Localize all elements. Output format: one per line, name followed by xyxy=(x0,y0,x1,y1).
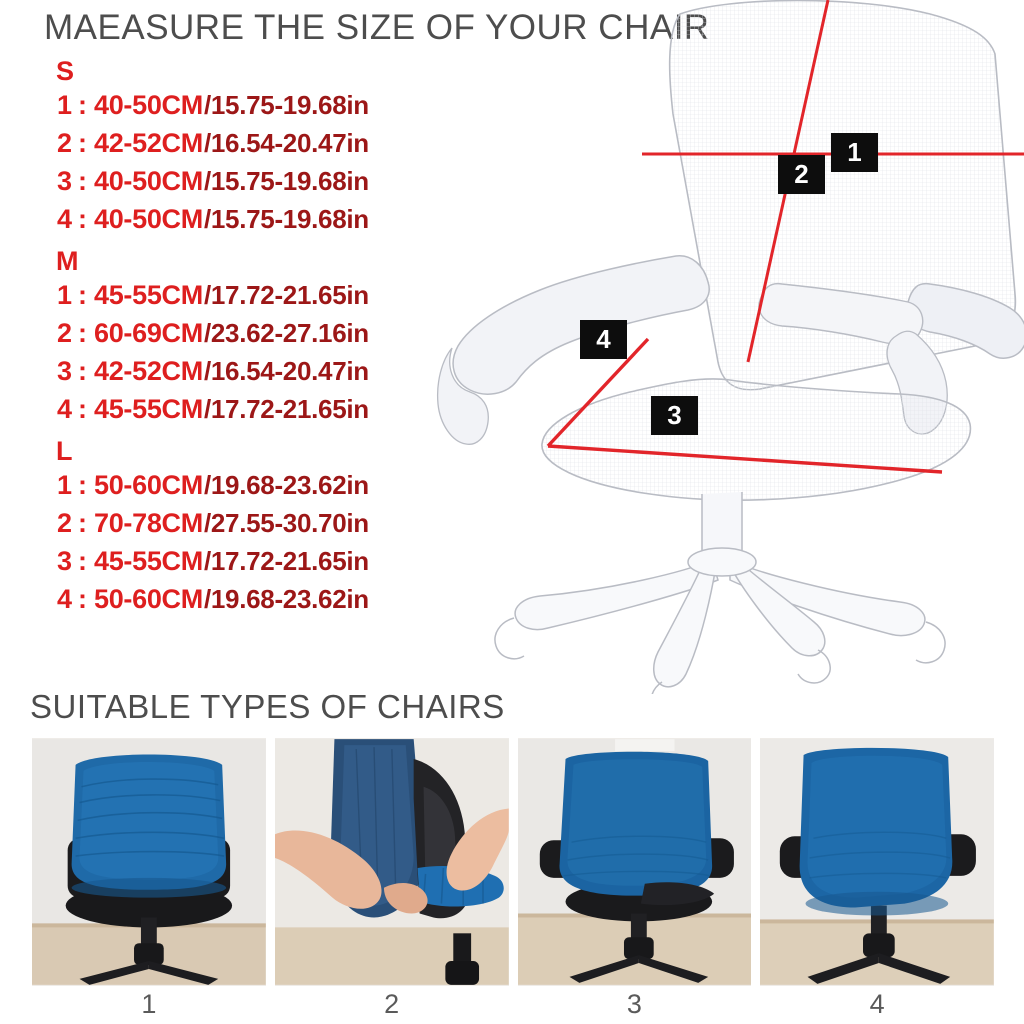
row-cm-value: 40-50CM xyxy=(94,200,203,238)
size-group-m: M 1 : 45-55CM /17.72-21.65in 2 : 60-69CM… xyxy=(48,246,568,428)
row-colon: : xyxy=(72,162,94,200)
row-index: 1 xyxy=(48,276,72,314)
row-colon: : xyxy=(72,124,94,162)
row-index: 3 xyxy=(48,542,72,580)
row-in-value: /16.54-20.47in xyxy=(203,352,369,390)
product-photo-4 xyxy=(760,738,994,986)
marker-label-3: 3 xyxy=(667,400,681,431)
row-in-value: /17.72-21.65in xyxy=(203,542,369,580)
product-photo-1 xyxy=(32,738,266,986)
row-cm-value: 45-55CM xyxy=(94,542,203,580)
measure-marker-3: 3 xyxy=(651,396,698,435)
size-row-l-1: 1 : 50-60CM /19.68-23.62in xyxy=(48,466,568,504)
row-index: 2 xyxy=(48,314,72,352)
row-colon: : xyxy=(72,504,94,542)
row-index: 1 xyxy=(48,466,72,504)
row-in-value: /15.75-19.68in xyxy=(203,86,369,124)
row-index: 4 xyxy=(48,580,72,618)
row-in-value: /19.68-23.62in xyxy=(203,466,369,504)
marker-label-2: 2 xyxy=(794,159,808,190)
row-index: 3 xyxy=(48,162,72,200)
size-row-l-2: 2 : 70-78CM /27.55-30.70in xyxy=(48,504,568,542)
size-group-s: S 1 : 40-50CM /15.75-19.68in 2 : 42-52CM… xyxy=(48,56,568,238)
photo-label-3: 3 xyxy=(518,988,752,1022)
row-cm-value: 42-52CM xyxy=(94,124,203,162)
size-row-l-3: 3 : 45-55CM /17.72-21.65in xyxy=(48,542,568,580)
row-cm-value: 60-69CM xyxy=(94,314,203,352)
row-colon: : xyxy=(72,200,94,238)
photo-label-4: 4 xyxy=(760,988,994,1022)
marker-label-1: 1 xyxy=(847,137,861,168)
row-colon: : xyxy=(72,580,94,618)
row-in-value: /17.72-21.65in xyxy=(203,390,369,428)
product-photo-2 xyxy=(275,738,509,986)
row-index: 4 xyxy=(48,200,72,238)
photo-label-2: 2 xyxy=(275,988,509,1022)
row-cm-value: 70-78CM xyxy=(94,504,203,542)
row-colon: : xyxy=(72,466,94,504)
row-colon: : xyxy=(72,276,94,314)
infographic-page: MAEASURE THE SIZE OF YOUR CHAIR xyxy=(0,0,1024,1024)
size-row-s-2: 2 : 42-52CM /16.54-20.47in xyxy=(48,124,568,162)
row-in-value: /23.62-27.16in xyxy=(203,314,369,352)
row-in-value: /16.54-20.47in xyxy=(203,124,369,162)
row-colon: : xyxy=(72,86,94,124)
row-cm-value: 45-55CM xyxy=(94,390,203,428)
size-row-m-3: 3 : 42-52CM /16.54-20.47in xyxy=(48,352,568,390)
size-group-l: L 1 : 50-60CM /19.68-23.62in 2 : 70-78CM… xyxy=(48,436,568,618)
row-colon: : xyxy=(72,390,94,428)
row-colon: : xyxy=(72,542,94,580)
row-cm-value: 40-50CM xyxy=(94,162,203,200)
row-in-value: /17.72-21.65in xyxy=(203,276,369,314)
size-letter-l: L xyxy=(48,436,568,466)
measure-marker-2: 2 xyxy=(778,155,825,194)
size-row-m-4: 4 : 45-55CM /17.72-21.65in xyxy=(48,390,568,428)
row-cm-value: 45-55CM xyxy=(94,276,203,314)
row-index: 1 xyxy=(48,86,72,124)
row-in-value: /15.75-19.68in xyxy=(203,162,369,200)
size-row-s-1: 1 : 40-50CM /15.75-19.68in xyxy=(48,86,568,124)
row-colon: : xyxy=(72,314,94,352)
size-row-m-2: 2 : 60-69CM /23.62-27.16in xyxy=(48,314,568,352)
row-index: 2 xyxy=(48,124,72,162)
photo-strip xyxy=(32,738,994,986)
size-chart: S 1 : 40-50CM /15.75-19.68in 2 : 42-52CM… xyxy=(48,56,568,618)
size-row-l-4: 4 : 50-60CM /19.68-23.62in xyxy=(48,580,568,618)
row-index: 4 xyxy=(48,390,72,428)
chair-seat xyxy=(542,379,971,500)
row-cm-value: 42-52CM xyxy=(94,352,203,390)
row-index: 3 xyxy=(48,352,72,390)
row-colon: : xyxy=(72,352,94,390)
size-letter-s: S xyxy=(48,56,568,86)
row-in-value: /19.68-23.62in xyxy=(203,580,369,618)
row-cm-value: 50-60CM xyxy=(94,580,203,618)
size-row-s-3: 3 : 40-50CM /15.75-19.68in xyxy=(48,162,568,200)
photo-label-1: 1 xyxy=(32,988,266,1022)
row-in-value: /27.55-30.70in xyxy=(203,504,369,542)
row-in-value: /15.75-19.68in xyxy=(203,200,369,238)
row-cm-value: 40-50CM xyxy=(94,86,203,124)
size-row-s-4: 4 : 40-50CM /15.75-19.68in xyxy=(48,200,568,238)
size-row-m-1: 1 : 45-55CM /17.72-21.65in xyxy=(48,276,568,314)
measure-marker-4: 4 xyxy=(580,320,627,359)
row-index: 2 xyxy=(48,504,72,542)
product-photo-3 xyxy=(518,738,752,986)
marker-label-4: 4 xyxy=(596,324,610,355)
size-letter-m: M xyxy=(48,246,568,276)
measure-marker-1: 1 xyxy=(831,133,878,172)
chair-base xyxy=(515,548,925,687)
photo-label-row: 1 2 3 4 xyxy=(32,988,994,1022)
row-cm-value: 50-60CM xyxy=(94,466,203,504)
